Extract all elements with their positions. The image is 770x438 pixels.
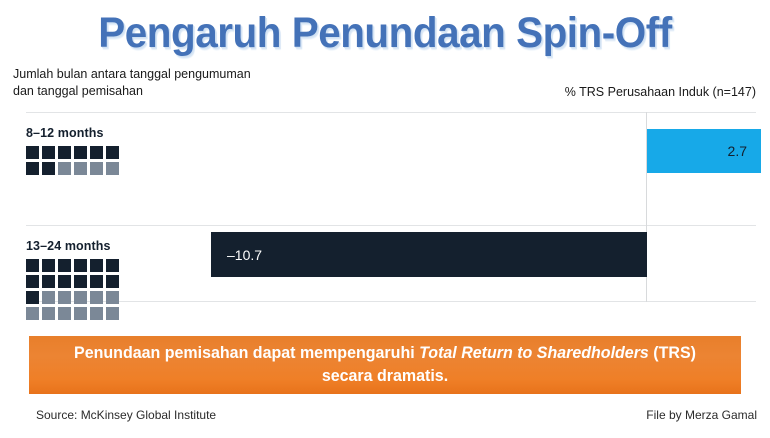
callout-text-part1: Penundaan pemisahan dapat mempengaruhi	[74, 344, 419, 362]
pictogram-square-filled	[74, 259, 87, 272]
pictogram-square-empty	[90, 307, 103, 320]
pictogram-row	[26, 275, 119, 288]
pictogram-square-filled	[42, 275, 55, 288]
pictogram-square-filled	[42, 146, 55, 159]
chart-group-8-12-months: 8–12 months	[26, 126, 119, 175]
pictogram-square-empty	[106, 291, 119, 304]
pictogram-square-empty	[58, 162, 71, 175]
pictogram-square-filled	[42, 259, 55, 272]
chart-area: 8–12 months 2.7 13–24 mont	[26, 112, 756, 302]
pictogram-square-filled	[106, 146, 119, 159]
chart-axis-description-line1: Jumlah bulan antara tanggal pengumuman	[13, 66, 251, 83]
chart-axis-description-line2: dan tanggal pemisahan	[13, 83, 251, 100]
pictogram-square-empty	[74, 162, 87, 175]
pictogram-square-empty	[90, 291, 103, 304]
footer-credit: File by Merza Gamal	[646, 408, 757, 422]
pictogram-row	[26, 307, 119, 320]
footer: Source: McKinsey Global Institute File b…	[0, 408, 770, 432]
chart-group-label: 8–12 months	[26, 126, 119, 140]
chart-value-axis-label: % TRS Perusahaan Induk (n=147)	[565, 85, 756, 99]
pictogram-square-filled	[106, 259, 119, 272]
pictogram-square-empty	[58, 291, 71, 304]
pictogram-square-empty	[26, 307, 39, 320]
pictogram-square-filled	[58, 275, 71, 288]
callout-banner: Penundaan pemisahan dapat mempengaruhi T…	[29, 336, 741, 394]
bar-value-label: –10.7	[227, 247, 262, 263]
pictogram-square-filled	[74, 275, 87, 288]
pictogram-square-filled	[42, 162, 55, 175]
pictogram-row	[26, 146, 119, 159]
callout-text-italic: Total Return to Sharedholders	[419, 344, 649, 362]
pictogram-square-empty	[106, 307, 119, 320]
bar-8-12-months: 2.7	[647, 129, 761, 173]
pictogram-square-empty	[58, 307, 71, 320]
pictogram-square-empty	[42, 291, 55, 304]
pictogram-square-filled	[26, 275, 39, 288]
bar-13-24-months: –10.7	[211, 232, 647, 277]
pictogram-square-filled	[26, 146, 39, 159]
pictogram-row	[26, 291, 119, 304]
footer-source: Source: McKinsey Global Institute	[36, 408, 216, 422]
chart-header-row: Jumlah bulan antara tanggal pengumuman d…	[0, 66, 770, 112]
title-bar: Pengaruh Penundaan Spin-Off	[0, 0, 770, 62]
bar-value-label: 2.7	[728, 143, 747, 159]
pictogram-grid-8-12-months	[26, 146, 119, 175]
pictogram-square-filled	[106, 275, 119, 288]
pictogram-square-empty	[74, 307, 87, 320]
pictogram-square-empty	[42, 307, 55, 320]
pictogram-square-empty	[74, 291, 87, 304]
chart-group-label: 13–24 months	[26, 239, 119, 253]
pictogram-square-filled	[90, 259, 103, 272]
pictogram-square-filled	[26, 259, 39, 272]
pictogram-square-filled	[58, 146, 71, 159]
pictogram-square-filled	[90, 275, 103, 288]
pictogram-square-empty	[90, 162, 103, 175]
pictogram-grid-13-24-months	[26, 259, 119, 320]
pictogram-square-filled	[90, 146, 103, 159]
pictogram-row	[26, 162, 119, 175]
pictogram-row	[26, 259, 119, 272]
pictogram-square-filled	[26, 291, 39, 304]
page-title: Pengaruh Penundaan Spin-Off	[98, 9, 671, 58]
chart-group-13-24-months: 13–24 months	[26, 239, 119, 320]
pictogram-square-empty	[106, 162, 119, 175]
callout-banner-text: Penundaan pemisahan dapat mempengaruhi T…	[57, 342, 713, 388]
pictogram-square-filled	[58, 259, 71, 272]
pictogram-square-filled	[26, 162, 39, 175]
chart-axis-description: Jumlah bulan antara tanggal pengumuman d…	[13, 66, 251, 100]
pictogram-square-filled	[74, 146, 87, 159]
